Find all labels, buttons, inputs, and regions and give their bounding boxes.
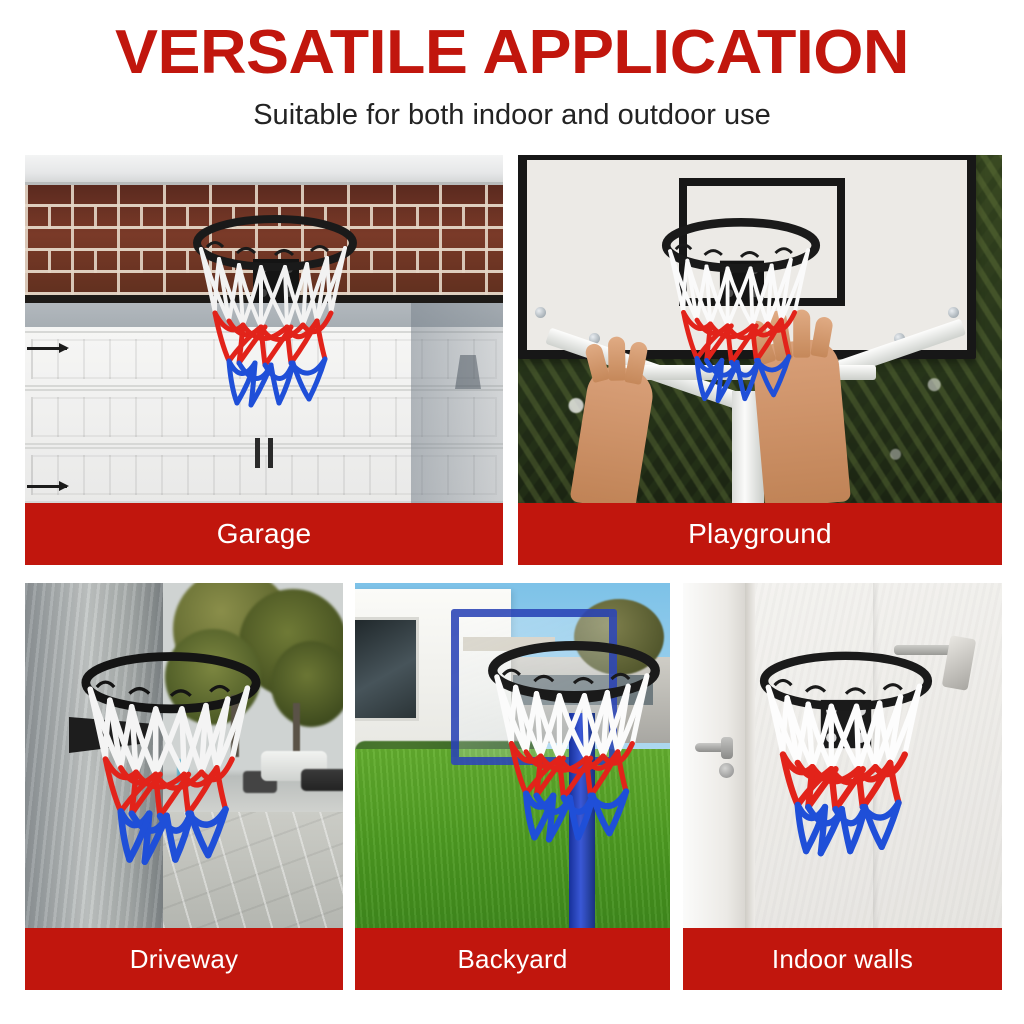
tree-trunk	[231, 695, 239, 757]
sidewalk	[163, 812, 343, 928]
hand-right	[751, 338, 851, 503]
arrow-marker-icon	[27, 347, 67, 350]
page-subtitle: Suitable for both indoor and outdoor use	[0, 98, 1024, 132]
caption-driveway: Driveway	[25, 928, 343, 990]
lawn	[355, 749, 670, 928]
arrow-marker-icon	[27, 485, 67, 488]
panel-garage: Garage	[25, 155, 503, 565]
page-title: VERSATILE APPLICATION	[0, 22, 1024, 84]
parked-car	[301, 769, 343, 791]
photo-indoor-walls	[683, 583, 1002, 928]
panel-indoor-walls: Indoor walls	[683, 583, 1002, 990]
brick-wall	[25, 185, 503, 295]
tree-icon	[271, 641, 343, 727]
marketing-image: VERSATILE APPLICATION Suitable for both …	[0, 0, 1024, 1024]
roof-soffit	[25, 155, 503, 185]
wall-shadow	[411, 303, 503, 503]
panel-backyard: Backyard	[355, 583, 670, 990]
wall-corner-shadow	[873, 583, 879, 928]
panel-driveway: Driveway	[25, 583, 343, 990]
bolt-icon	[535, 307, 546, 318]
caption-garage: Garage	[25, 503, 503, 565]
concrete-pillar	[25, 583, 163, 928]
caption-playground: Playground	[518, 503, 1002, 565]
garage-door-handle	[255, 438, 273, 468]
backboard	[518, 155, 976, 359]
house-window	[355, 617, 419, 721]
photo-garage	[25, 155, 503, 503]
blue-support-pole	[569, 713, 595, 928]
door-handle[interactable]	[695, 743, 729, 752]
door-frame	[745, 583, 755, 928]
photo-playground	[518, 155, 1002, 503]
tree-trunk	[293, 703, 300, 757]
caption-indoor-walls: Indoor walls	[683, 928, 1002, 990]
caption-backyard: Backyard	[355, 928, 670, 990]
pedestrian	[177, 759, 189, 789]
panel-playground: Playground	[518, 155, 1002, 565]
wall-ledge	[25, 295, 503, 303]
photo-driveway	[25, 583, 343, 928]
bedroom-door	[683, 583, 745, 928]
photo-backyard	[355, 583, 670, 928]
door-lock-icon[interactable]	[719, 763, 734, 778]
backboard-inner-square	[679, 178, 845, 306]
bolt-icon	[948, 307, 959, 318]
tree-icon	[165, 629, 261, 725]
